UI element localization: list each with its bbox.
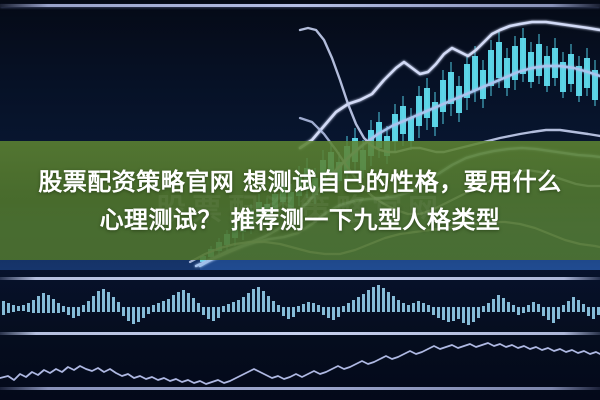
panel-divider-top: [0, 277, 600, 280]
indicator-line-svg: [0, 336, 600, 389]
indicator-line-panel: [0, 336, 600, 389]
bottom-divider-rule: [0, 387, 600, 390]
macd-histogram-panel: [0, 281, 600, 334]
headline-line-1: 股票配资策略官网 想测试自己的性格，要用什么: [22, 163, 578, 201]
indicator-line: [0, 343, 600, 384]
page-title: 股票配资策略官网 想测试自己的性格，要用什么 心理测试？ 推荐测一下九型人格类型: [22, 163, 578, 239]
top-divider-rule: [0, 4, 600, 7]
macd-bars: [2, 285, 600, 325]
headline-banner: 股票配资策略官网 股票配资策略官网 想测试自己的性格，要用什么 心理测试？ 推荐…: [0, 141, 600, 260]
macd-histogram-svg: [0, 281, 600, 334]
panel-divider-bottom: [0, 332, 600, 335]
headline-line-2: 心理测试？ 推荐测一下九型人格类型: [22, 201, 578, 239]
image-canvas: 股票配资策略官网 股票配资策略官网 想测试自己的性格，要用什么 心理测试？ 推荐…: [0, 0, 600, 400]
